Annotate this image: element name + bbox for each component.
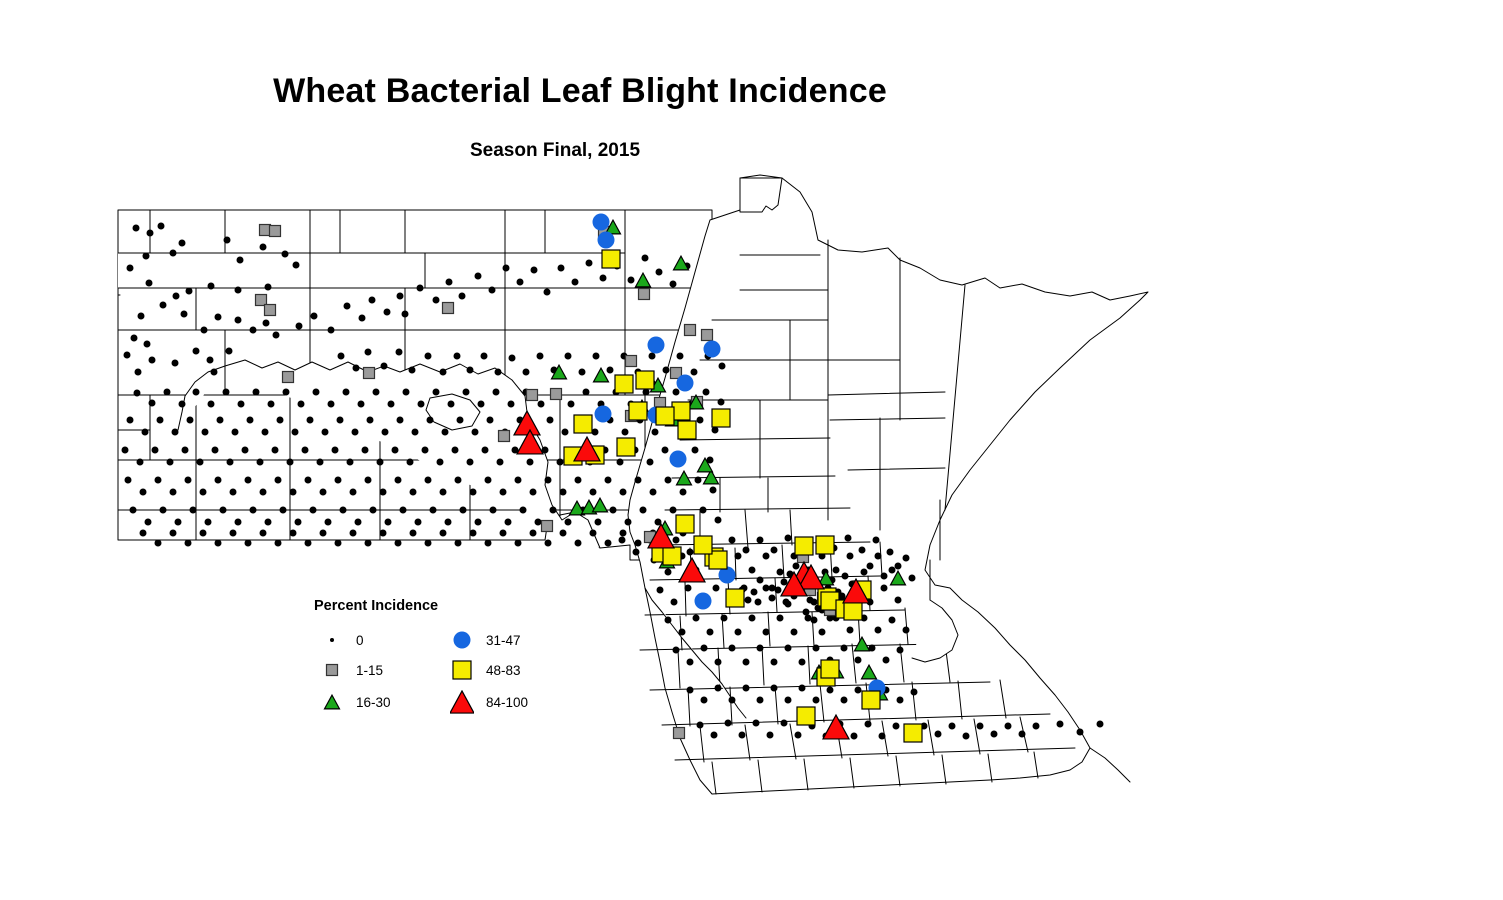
map-point-dot [412,429,419,436]
map-point-dot [272,447,279,454]
map-point-dot [287,459,294,466]
map-point-dot [190,507,197,514]
map-point-dot [149,400,156,407]
map-point-dot [260,489,267,496]
map-point-circle [454,632,471,649]
map-point-dot [208,401,215,408]
legend-symbol-circle [450,628,474,652]
map-point-dot [895,563,902,570]
map-point-dot [122,447,129,454]
map-point-dot [685,585,692,592]
map-canvas [0,0,1503,900]
map-point-square [639,289,650,300]
map-point-dot [560,489,567,496]
map-point-dot [701,697,708,704]
map-point-dot [446,279,453,286]
map-point-dot [879,733,886,740]
map-point-square [656,407,674,425]
map-point-dot [713,585,720,592]
map-point-dot [590,530,597,537]
map-point-dot [622,429,629,436]
map-point-dot [873,537,880,544]
map-point-dot [467,367,474,374]
map-point-dot [771,547,778,554]
map-point-dot [635,540,642,547]
map-point-dot [140,489,147,496]
map-point-square [499,431,510,442]
map-point-square [602,250,620,268]
map-point-dot [217,417,224,424]
map-point-dot [633,549,640,556]
map-point-dot [1033,723,1040,730]
map-point-dot [859,547,866,554]
map-point-dot [460,507,467,514]
map-point-dot [472,429,479,436]
map-point-dot [352,429,359,436]
map-point-square [694,536,712,554]
map-point-dot [395,540,402,547]
map-point-square [527,390,538,401]
map-point-dot [175,519,182,526]
map-point-dot [1077,729,1084,736]
legend-label: 1-15 [356,664,383,678]
map-point-dot [402,311,409,318]
map-point-square [629,402,647,420]
map-point-dot [575,477,582,484]
map-point-dot [425,540,432,547]
map-point-dot [201,327,208,334]
map-point-dot [749,615,756,622]
map-point-dot [865,721,872,728]
map-point-circle [593,214,610,231]
map-point-dot [642,255,649,262]
map-point-dot [134,390,141,397]
map-point-dot [544,289,551,296]
map-point-square [726,589,744,607]
map-point-dot [467,459,474,466]
map-point-dot [135,369,142,376]
map-point-dot [170,530,177,537]
map-point-dot [847,627,854,634]
map-point-dot [186,288,193,295]
map-point-dot [743,659,750,666]
map-point-dot [335,540,342,547]
map-point-dot [127,417,134,424]
map-point-dot [703,389,710,396]
map-point-dot [230,489,237,496]
map-point-dot [230,530,237,537]
map-point-dot [149,357,156,364]
map-point-dot [881,573,888,580]
map-point-dot [452,447,459,454]
map-point-dot [409,367,416,374]
map-point-square [551,389,562,400]
map-point-dot [530,489,537,496]
map-point-dot [687,549,694,556]
map-point-dot [305,477,312,484]
map-point-dot [572,279,579,286]
map-point-dot [397,417,404,424]
map-point-dot [735,629,742,636]
map-point-dot [463,389,470,396]
map-point-square [260,225,271,236]
map-point-dot [343,389,350,396]
map-point-dot [719,363,726,370]
map-point-dot [124,352,131,359]
map-point-dot [799,659,806,666]
map-point-square [862,691,880,709]
map-point-dot [310,507,317,514]
map-point-dot [215,477,222,484]
map-point-dot [935,731,942,738]
map-point-dot [625,519,632,526]
map-point-dot [841,645,848,652]
map-point-dot [440,530,447,537]
map-point-dot [619,537,626,544]
map-point-dot [427,417,434,424]
map-point-dot [143,253,150,260]
map-point-dot [725,720,732,727]
legend-symbol-square [450,658,474,682]
map-point-square [821,660,839,678]
map-point-dot [311,313,318,320]
map-point-dot [388,401,395,408]
map-point-square [702,330,713,341]
map-point-dot [144,341,151,348]
map-point-dot [325,519,332,526]
map-point-dot [418,401,425,408]
map-point-square [636,371,654,389]
map-point-dot [771,659,778,666]
map-point-dot [202,429,209,436]
map-point-dot [847,553,854,560]
map-point-dot [691,369,698,376]
map-point-dot [605,477,612,484]
map-point-dot [557,459,564,466]
map-point-dot [687,687,694,694]
map-point-circle [598,232,615,249]
map-point-square [443,303,454,314]
map-point-dot [538,401,545,408]
page-title: Wheat Bacterial Leaf Blight Incidence [0,72,1160,111]
map-point-dot [527,459,534,466]
map-point-dot [757,697,764,704]
map-point-dot [745,597,752,604]
map-point-dot [167,459,174,466]
map-point-dot [146,280,153,287]
map-point-dot [293,262,300,269]
map-point-dot [125,477,132,484]
map-point-dot [673,389,680,396]
map-point-dot [833,567,840,574]
map-point-dot [515,540,522,547]
map-point-dot [215,314,222,321]
map-point-dot [367,417,374,424]
map-point-dot [205,519,212,526]
map-point-dot [767,732,774,739]
map-point-dot [448,401,455,408]
map-point-dot [697,722,704,729]
map-point-dot [211,369,218,376]
map-point-dot [671,599,678,606]
legend-symbol-square [320,658,344,682]
map-point-dot [296,323,303,330]
map-point-dot [273,332,280,339]
map-point-dot [763,585,770,592]
map-point-dot [155,477,162,484]
map-point-dot [508,401,515,408]
map-point-square [283,372,294,383]
map-point-dot [500,530,507,537]
map-point-dot [753,720,760,727]
map-point-dot [883,657,890,664]
map-point-dot [226,348,233,355]
map-point-dot [410,530,417,537]
map-point-dot [590,489,597,496]
map-point-square [542,521,553,532]
map-point-dot [137,459,144,466]
map-point-dot [440,489,447,496]
map-point-dot [600,275,607,282]
map-point-dot [777,569,784,576]
legend-label: 0 [356,634,364,648]
map-point-dot [425,353,432,360]
map-point-dot [595,519,602,526]
map-point-dot [197,459,204,466]
map-point-dot [350,489,357,496]
map-point-dot [445,519,452,526]
map-point-dot [620,489,627,496]
map-point-dot [701,645,708,652]
map-point-dot [1057,721,1064,728]
map-point-dot [232,429,239,436]
map-point-dot [743,547,750,554]
map-point-dot [245,540,252,547]
map-point-dot [253,389,260,396]
map-point-dot [729,645,736,652]
map-point-square [364,368,375,379]
map-point-dot [400,507,407,514]
map-point-dot [440,369,447,376]
map-point-square [615,375,633,393]
map-point-dot [635,477,642,484]
map-point-dot [1097,721,1104,728]
map-point-dot [275,477,282,484]
map-point-dot [565,353,572,360]
map-point-dot [692,447,699,454]
map-point-dot [517,279,524,286]
map-point-dot [579,369,586,376]
map-point-dot [179,240,186,247]
map-point-dot [749,567,756,574]
map-point-dot [739,732,746,739]
map-point-dot [382,429,389,436]
map-point-dot [358,401,365,408]
map-point-dot [295,519,302,526]
map-point-dot [470,489,477,496]
map-point-dot [147,230,154,237]
map-point-dot [322,429,329,436]
map-point-dot [396,349,403,356]
map-point-dot [384,309,391,316]
map-point-dot [855,657,862,664]
map-point-dot [377,459,384,466]
map-point-dot [173,293,180,300]
map-point-dot [185,540,192,547]
map-point-dot [160,507,167,514]
map-point-dot [362,447,369,454]
map-point-dot [145,519,152,526]
page-subtitle: Season Final, 2015 [0,140,1110,162]
map-point-dot [586,260,593,267]
map-point-dot [277,417,284,424]
map-point-dot [697,417,704,424]
map-point-dot [395,477,402,484]
map-point-dot [785,535,792,542]
map-point-dot [560,530,567,537]
map-point-dot [991,731,998,738]
map-point-dot [425,477,432,484]
map-point-dot [193,389,200,396]
map-point-triangle [450,691,474,713]
map-point-dot [131,335,138,342]
map-point-dot [895,597,902,604]
map-point-dot [640,507,647,514]
map-point-dot [649,353,656,360]
map-point-square [626,356,637,367]
map-point-dot [365,349,372,356]
map-point-dot [656,269,663,276]
map-point-dot [403,389,410,396]
map-point-dot [250,507,257,514]
map-point-circle [648,337,665,354]
map-point-dot [735,553,742,560]
map-point-dot [305,540,312,547]
map-point-dot [317,459,324,466]
map-point-dot [711,732,718,739]
map-point-square [816,536,834,554]
map-point-dot [385,519,392,526]
legend-label: 84-100 [486,696,528,710]
map-point-dot [433,389,440,396]
map-point-dot [889,617,896,624]
map-point-dot [673,647,680,654]
map-point-dot [347,459,354,466]
map-point-dot [187,417,194,424]
map-point-dot [845,535,852,542]
map-point-dot [283,389,290,396]
map-point-dot [781,720,788,727]
map-point-dot [909,575,916,582]
map-point-dot [493,389,500,396]
map-point-dot [710,487,717,494]
map-point-dot [142,429,149,436]
map-point-dot [407,459,414,466]
map-point-dot [665,617,672,624]
map-point-dot [769,595,776,602]
map-point-dot [485,540,492,547]
map-point-dot [235,317,242,324]
map-point-dot [442,429,449,436]
map-point-dot [328,401,335,408]
map-point-dot [207,357,214,364]
map-point-dot [290,489,297,496]
map-point-dot [320,489,327,496]
map-point-dot [1005,723,1012,730]
map-point-square [663,547,681,565]
map-point-dot [268,401,275,408]
map-point-dot [260,530,267,537]
map-point-square [574,415,592,433]
map-point-dot [677,353,684,360]
map-point-dot [410,489,417,496]
map-point-dot [485,477,492,484]
map-point-dot [340,507,347,514]
map-point-dot [811,617,818,624]
map-point-dot [547,417,554,424]
map-point-dot [819,629,826,636]
map-point-dot [687,659,694,666]
map-point-dot [220,507,227,514]
map-point-dot [215,540,222,547]
map-point-dot [503,265,510,272]
legend: Percent Incidence 01-1516-3031-4748-8384… [312,598,572,733]
map-point-dot [500,489,507,496]
map-point-dot [459,293,466,300]
map-point-dot [887,549,894,556]
map-point-dot [785,645,792,652]
map-point-dot [237,257,244,264]
map-point-dot [208,283,215,290]
map-point-dot [763,629,770,636]
legend-symbol-triangle [320,690,344,714]
map-point-dot [185,477,192,484]
map-point-dot [867,563,874,570]
map-point-circle [677,375,694,392]
map-point-dot [558,265,565,272]
map-point-dot [568,401,575,408]
map-point-dot [729,697,736,704]
map-point-dot [751,589,758,596]
map-point-dot [813,697,820,704]
map-point-dot [652,429,659,436]
map-point-dot [813,645,820,652]
map-point-dot [369,297,376,304]
map-point-dot [380,530,387,537]
map-point-dot [520,507,527,514]
legend-symbol-triangle [450,690,474,714]
map-point-dot [179,401,186,408]
map-point-dot [353,365,360,372]
map-point-dot [455,540,462,547]
map-point-square [797,707,815,725]
map-point-dot [238,401,245,408]
map-point-dot [158,223,165,230]
map-point-dot [373,389,380,396]
map-point-dot [861,569,868,576]
map-point-dot [133,225,140,232]
map-point-dot [344,303,351,310]
map-point-dot [290,530,297,537]
map-point-dot [397,293,404,300]
map-point-dot [365,477,372,484]
map-point-circle [670,451,687,468]
map-point-dot [330,638,334,642]
map-point-dot [170,250,177,257]
map-point-dot [260,244,267,251]
map-point-dot [481,353,488,360]
map-point-dot [172,429,179,436]
